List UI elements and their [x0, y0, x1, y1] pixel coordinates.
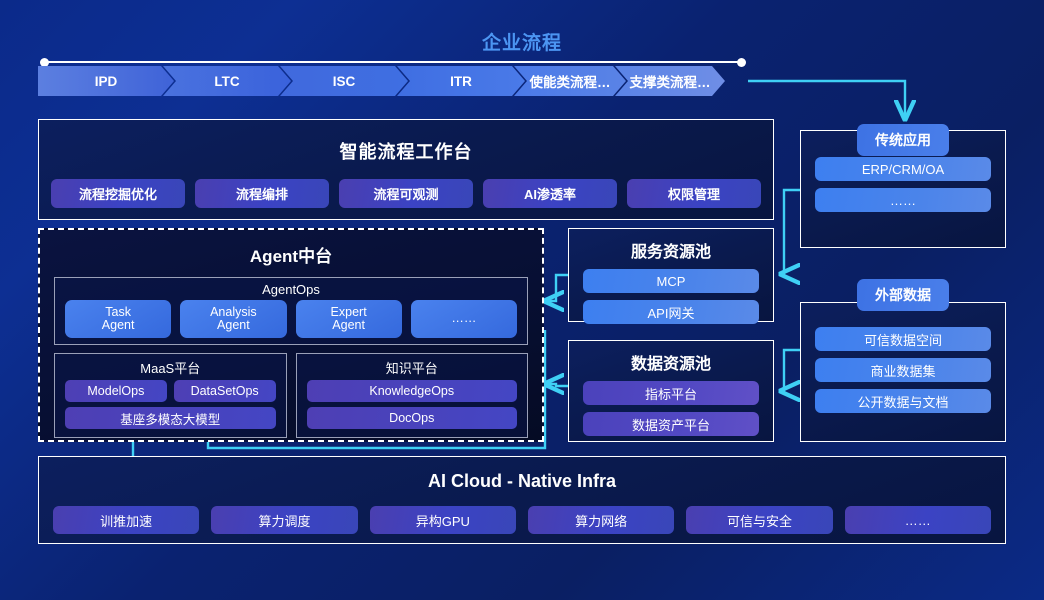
- service-resource-pool-items: MCP API网关: [569, 269, 773, 324]
- workbench-pill-row: 流程挖掘优化 流程编排 流程可观测 AI渗透率 权限管理: [39, 179, 773, 208]
- external-data-item-commercial-dataset[interactable]: 商业数据集: [815, 358, 991, 382]
- data-resource-pool-title: 数据资源池: [569, 350, 773, 374]
- process-step-supporting[interactable]: 支撑类流程…: [615, 66, 725, 96]
- external-data-panel: 可信数据空间 商业数据集 公开数据与文档: [800, 302, 1006, 442]
- agent-lower-row: MaaS平台 ModelOps DataSetOps 基座多模态大模型 知识平台…: [54, 353, 528, 438]
- agentops-card-row: Task Agent Analysis Agent Expert Agent ……: [55, 300, 527, 346]
- link-external-data-to-data-pool: [782, 350, 800, 391]
- infra-panel: AI Cloud - Native Infra 训推加速 算力调度 异构GPU …: [38, 456, 1006, 544]
- data-pool-item-data-asset-platform[interactable]: 数据资产平台: [583, 412, 759, 436]
- external-data-item-public-data-docs[interactable]: 公开数据与文档: [815, 389, 991, 413]
- knowledge-row-1: KnowledgeOps: [297, 380, 528, 402]
- process-step-isc[interactable]: ISC: [280, 66, 408, 96]
- knowledge-platform-box: 知识平台 KnowledgeOps DocOps: [296, 353, 529, 438]
- workbench-pill-process-orchestration[interactable]: 流程编排: [195, 179, 329, 208]
- workbench-title: 智能流程工作台: [39, 138, 773, 164]
- external-data-items: 可信数据空间 商业数据集 公开数据与文档: [801, 327, 1005, 413]
- service-pool-item-api-gateway[interactable]: API网关: [583, 300, 759, 324]
- maas-pill-datasetops[interactable]: DataSetOps: [174, 380, 276, 402]
- traditional-app-item-more[interactable]: ……: [815, 188, 991, 212]
- link-data-pool-to-agent: [546, 384, 568, 386]
- agentops-box: AgentOps Task Agent Analysis Agent Exper…: [54, 277, 528, 345]
- service-resource-pool-title: 服务资源池: [569, 238, 773, 262]
- process-flow-bar: IPD LTC ISC ITR 使能类流程… 支撑类流程…: [38, 66, 748, 96]
- traditional-app-badge: 传统应用: [857, 124, 949, 156]
- workbench-pill-process-mining[interactable]: 流程挖掘优化: [51, 179, 185, 208]
- agent-card-analysis-line1: Analysis: [210, 306, 257, 320]
- service-pool-item-mcp[interactable]: MCP: [583, 269, 759, 293]
- maas-ops-row: ModelOps DataSetOps: [55, 380, 286, 402]
- external-data-item-trusted-space[interactable]: 可信数据空间: [815, 327, 991, 351]
- traditional-app-item-erp-crm-oa[interactable]: ERP/CRM/OA: [815, 157, 991, 181]
- data-resource-pool-panel: 数据资源池 指标平台 数据资产平台: [568, 340, 774, 442]
- maas-pill-foundation-model[interactable]: 基座多模态大模型: [65, 407, 276, 429]
- workbench-panel: 智能流程工作台 流程挖掘优化 流程编排 流程可观测 AI渗透率 权限管理: [38, 119, 774, 220]
- infra-pill-compute-scheduling[interactable]: 算力调度: [211, 506, 357, 534]
- page-title: 企业流程: [0, 28, 1044, 55]
- diagram-canvas: 企业流程 IPD LTC ISC ITR 使能类流程… 支撑类流程… 智能流程工…: [0, 0, 1044, 600]
- agent-card-expert-line2: Agent: [332, 319, 365, 333]
- workbench-pill-ai-penetration[interactable]: AI渗透率: [483, 179, 617, 208]
- workbench-pill-permission-management[interactable]: 权限管理: [627, 179, 761, 208]
- data-pool-item-metrics-platform[interactable]: 指标平台: [583, 381, 759, 405]
- infra-pill-row: 训推加速 算力调度 异构GPU 算力网络 可信与安全 ……: [39, 506, 1005, 534]
- process-step-ltc[interactable]: LTC: [163, 66, 291, 96]
- knowledge-pill-knowledgeops[interactable]: KnowledgeOps: [307, 380, 518, 402]
- agent-card-more-line1: ……: [451, 312, 476, 326]
- process-step-enabling[interactable]: 使能类流程…: [514, 66, 626, 96]
- knowledge-row-2: DocOps: [297, 407, 528, 429]
- knowledge-pill-docops[interactable]: DocOps: [307, 407, 518, 429]
- rail-line: [45, 61, 741, 63]
- infra-pill-more[interactable]: ……: [845, 506, 991, 534]
- agent-card-more[interactable]: ……: [411, 300, 517, 338]
- infra-pill-training-inference-accel[interactable]: 训推加速: [53, 506, 199, 534]
- agent-card-expert[interactable]: Expert Agent: [296, 300, 402, 338]
- maas-pill-modelops[interactable]: ModelOps: [65, 380, 167, 402]
- agent-card-analysis-line2: Agent: [217, 319, 250, 333]
- link-service-pool-to-agent: [546, 275, 568, 301]
- knowledge-platform-title: 知识平台: [297, 354, 528, 380]
- infra-pill-trust-security[interactable]: 可信与安全: [686, 506, 832, 534]
- agent-card-task[interactable]: Task Agent: [65, 300, 171, 338]
- workbench-pill-process-observability[interactable]: 流程可观测: [339, 179, 473, 208]
- maas-platform-title: MaaS平台: [55, 354, 286, 380]
- maas-foundation-row: 基座多模态大模型: [55, 407, 286, 429]
- process-step-itr[interactable]: ITR: [397, 66, 525, 96]
- service-resource-pool-panel: 服务资源池 MCP API网关: [568, 228, 774, 322]
- agent-card-expert-line1: Expert: [331, 306, 367, 320]
- agent-platform-zone: Agent中台 AgentOps Task Agent Analysis Age…: [38, 228, 544, 442]
- agentops-title: AgentOps: [55, 278, 527, 300]
- agent-card-analysis[interactable]: Analysis Agent: [180, 300, 286, 338]
- agent-card-task-line2: Agent: [102, 319, 135, 333]
- agent-card-task-line1: Task: [105, 306, 131, 320]
- infra-pill-compute-network[interactable]: 算力网络: [528, 506, 674, 534]
- link-traditional-app-to-service-pool: [782, 190, 800, 274]
- infra-pill-heterogeneous-gpu[interactable]: 异构GPU: [370, 506, 516, 534]
- infra-title: AI Cloud - Native Infra: [39, 471, 1005, 492]
- traditional-app-items: ERP/CRM/OA ……: [801, 157, 1005, 212]
- agent-platform-title: Agent中台: [40, 242, 542, 267]
- maas-platform-box: MaaS平台 ModelOps DataSetOps 基座多模态大模型: [54, 353, 287, 438]
- link-process-to-traditional-app: [748, 81, 905, 118]
- external-data-badge: 外部数据: [857, 279, 949, 311]
- process-step-ipd[interactable]: IPD: [38, 66, 174, 96]
- data-resource-pool-items: 指标平台 数据资产平台: [569, 381, 773, 436]
